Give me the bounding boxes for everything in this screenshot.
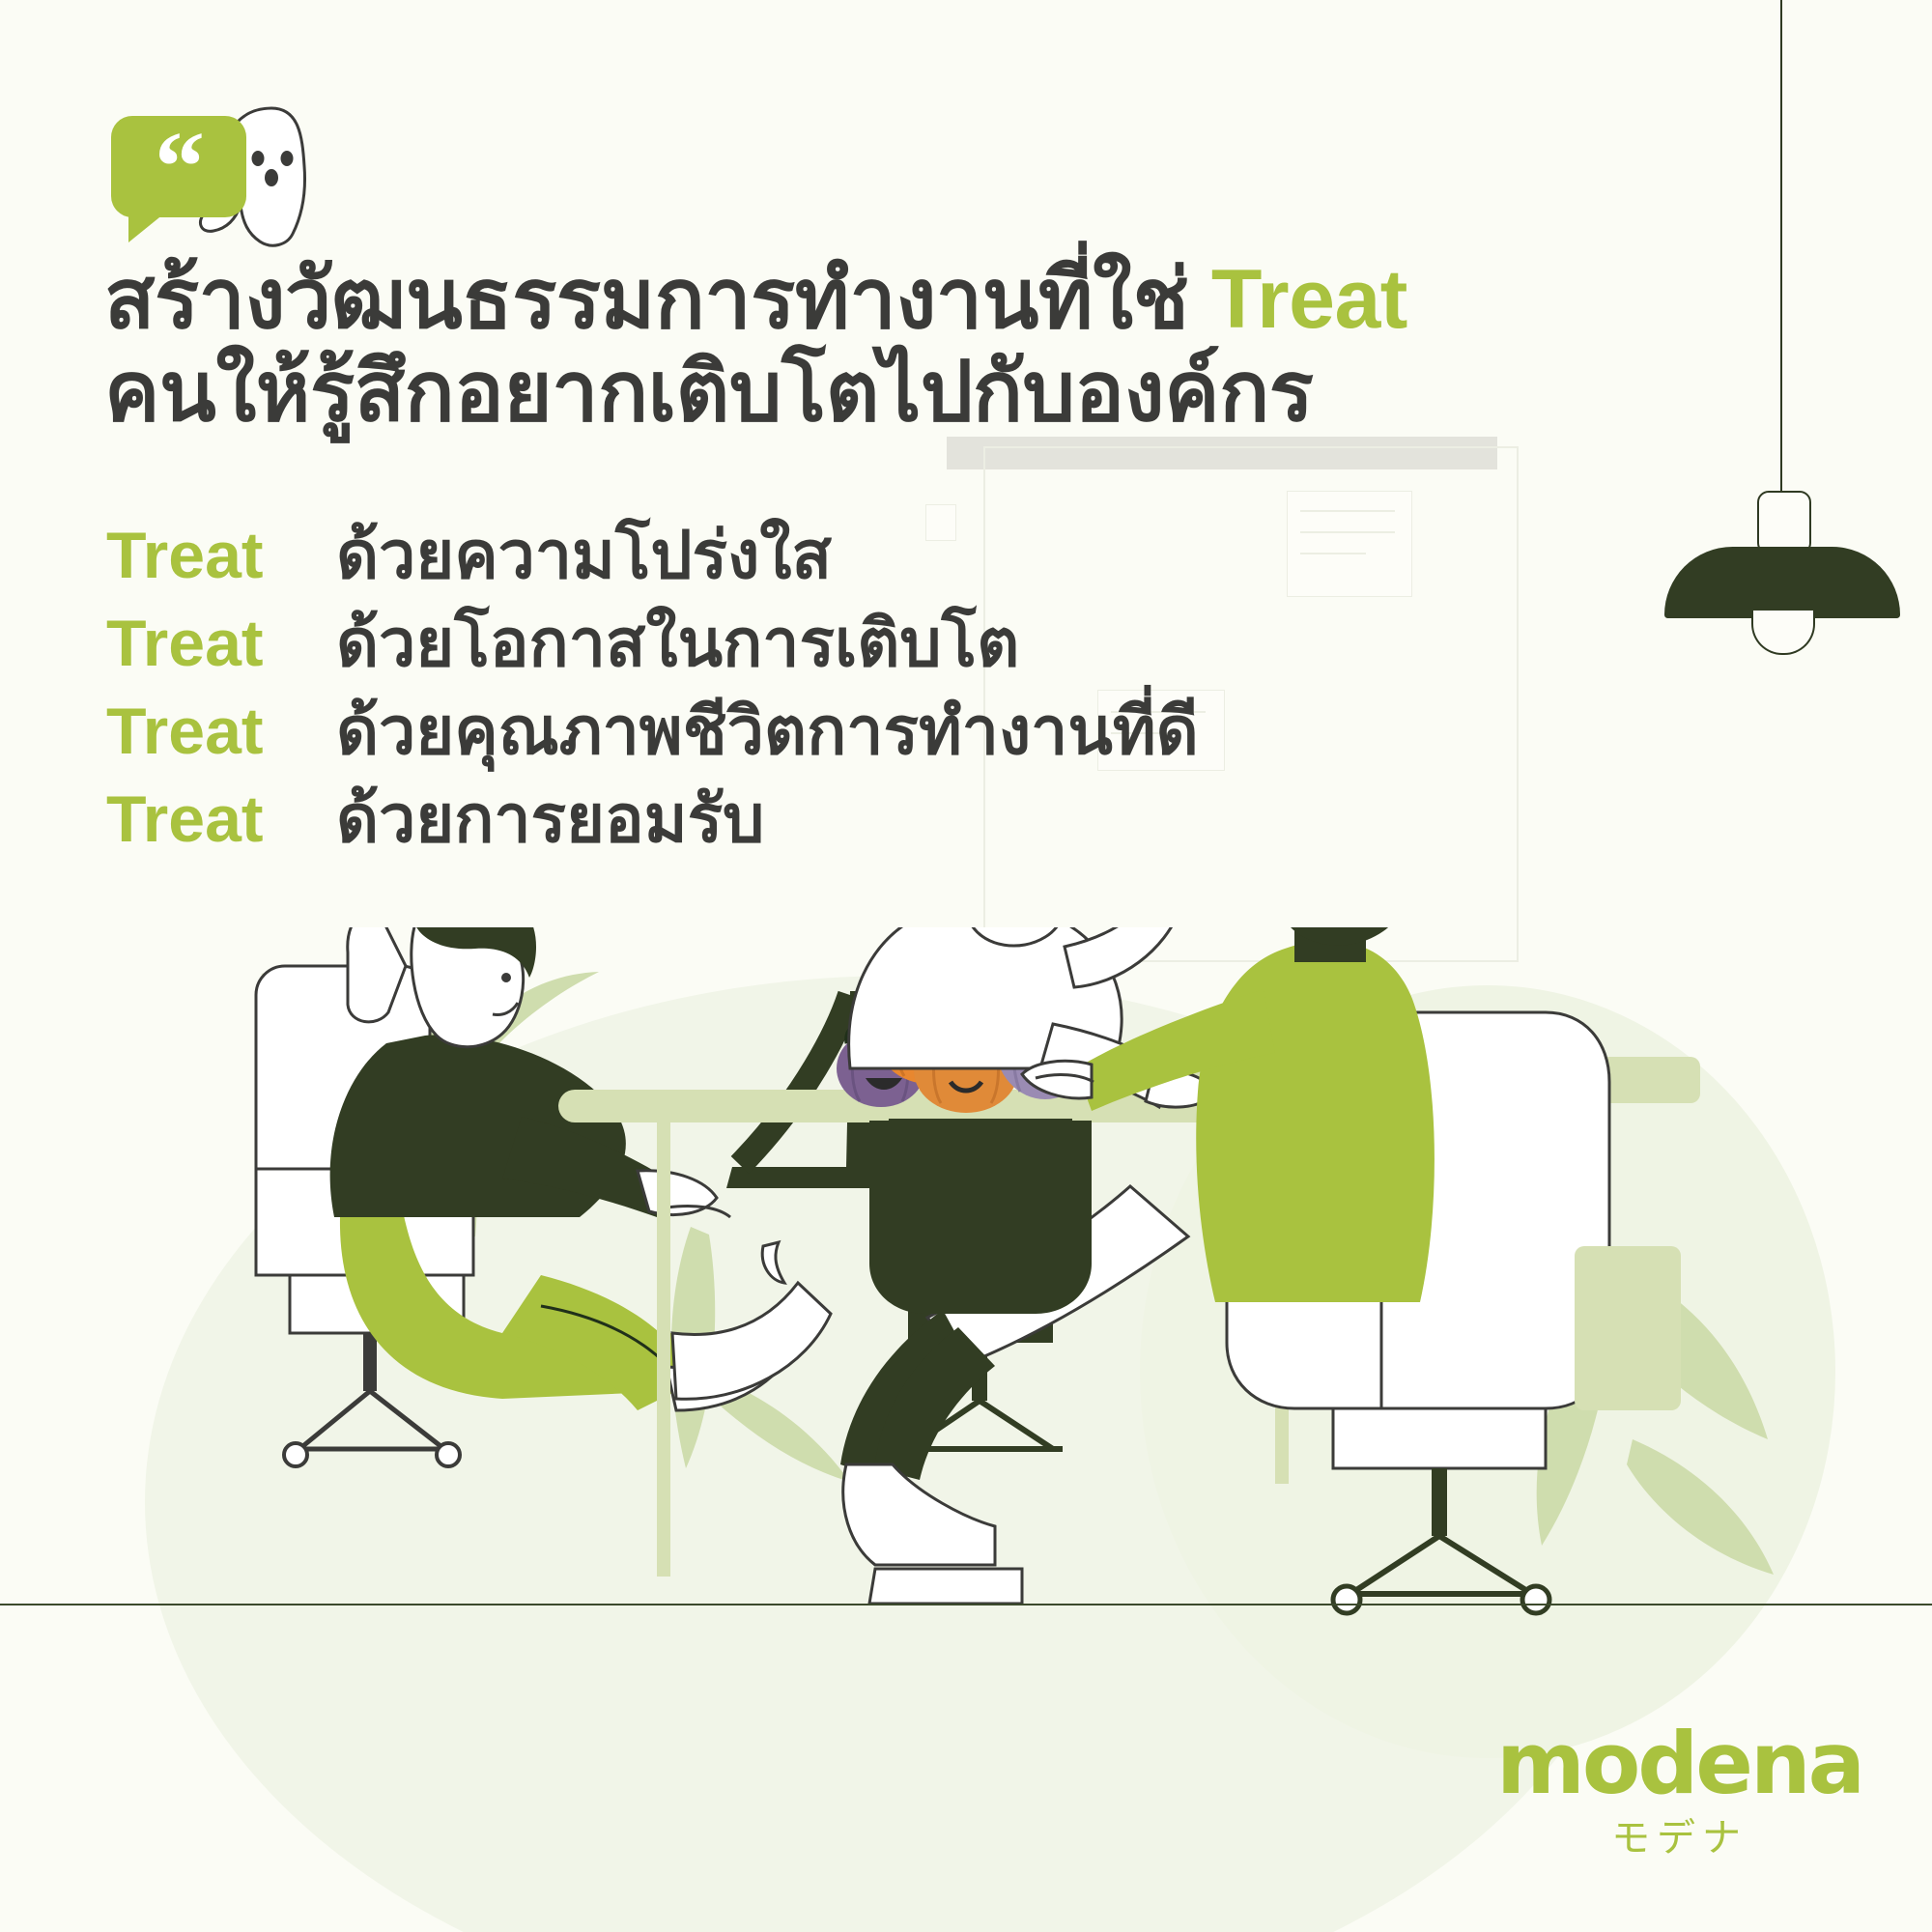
ghost-eye-left (252, 151, 265, 166)
quote-mark-icon: “ (111, 116, 246, 217)
center-dark-seat (869, 1121, 1092, 1314)
logo-japanese-subtext: モデナ (1496, 1806, 1862, 1862)
treat-description: ด้วยความโปร่งใส (336, 512, 832, 600)
headline-line1-thai: สร้างวัฒนธรรมการทำงานที่ใช่ (104, 253, 1188, 346)
poster-canvas: “ สร้างวัฒนธรรมการทำงานที่ใช่ Treat คนให… (0, 0, 1932, 1932)
page-title: สร้างวัฒนธรรมการทำงานที่ใช่ Treat คนให้ร… (104, 253, 1843, 440)
headline-line-2: คนให้รู้สึกอยากเติบโตไปกับองค์กร (104, 346, 1843, 439)
treat-list-item: Treat ด้วยความโปร่งใส (106, 512, 1748, 600)
treat-list: Treat ด้วยความโปร่งใส Treat ด้วยโอกาสในก… (106, 512, 1748, 864)
treat-list-item: Treat ด้วยการยอมรับ (106, 776, 1748, 864)
treat-list-item: Treat ด้วยโอกาสในการเติบโต (106, 600, 1748, 688)
treat-description: ด้วยโอกาสในการเติบโต (336, 600, 1019, 688)
ghost-eye-right (281, 151, 294, 166)
treat-keyword: Treat (106, 688, 336, 776)
floor-line (0, 1604, 1932, 1605)
lamp-bulb (1751, 611, 1815, 655)
ghost-mouth (265, 169, 278, 186)
headline-accent-treat: Treat (1211, 253, 1407, 346)
lamp-neck (1757, 491, 1811, 554)
treat-description: ด้วยการยอมรับ (336, 776, 764, 864)
headline-line-1: สร้างวัฒนธรรมการทำงานที่ใช่ Treat (104, 253, 1843, 346)
office-scene-illustration (0, 927, 1932, 1777)
man-eye (501, 973, 511, 982)
treat-keyword: Treat (106, 600, 336, 688)
treat-keyword: Treat (106, 776, 336, 864)
logo-wordmark: modena (1496, 1723, 1862, 1804)
quote-badge: “ (111, 106, 362, 241)
treat-keyword: Treat (106, 512, 336, 600)
brand-logo: modena モデナ (1496, 1723, 1862, 1862)
treat-list-item: Treat ด้วยคุณภาพชีวิตการทำงานที่ดี (106, 688, 1748, 776)
treat-description: ด้วยคุณภาพชีวิตการทำงานที่ดี (336, 688, 1199, 776)
